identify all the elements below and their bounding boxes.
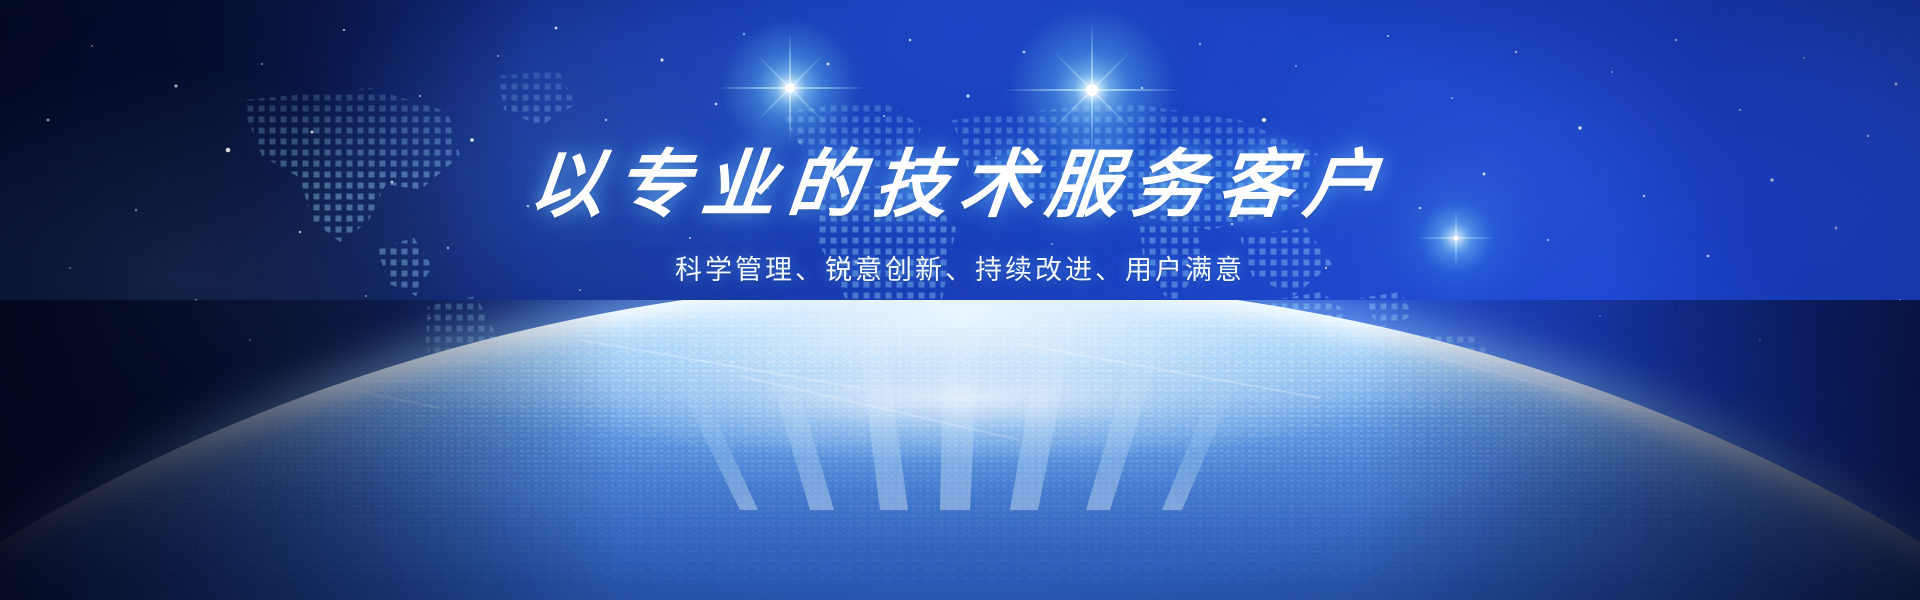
banner-headline: 以专业的技术服务客户 [0, 148, 1920, 222]
banner-subtitle: 科学管理、锐意创新、持续改进、用户满意 [0, 248, 1920, 287]
hero-banner: 以专业的技术服务客户 科学管理、锐意创新、持续改进、用户满意 [0, 0, 1920, 600]
earth-horizon [0, 300, 1920, 600]
